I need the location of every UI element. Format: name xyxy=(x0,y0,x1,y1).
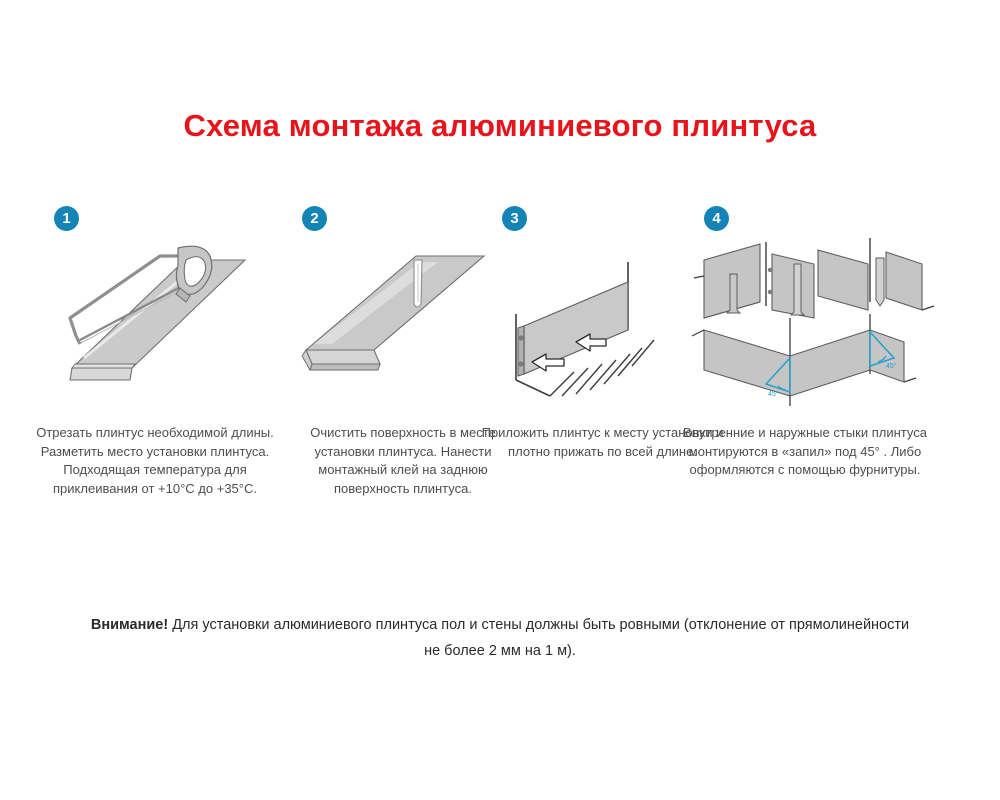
angle-label-inner: 45° xyxy=(768,390,779,398)
step-2: 2 Очисти xyxy=(288,196,518,556)
angle-label-outer: 45° xyxy=(886,362,897,370)
infographic-page: Схема монтажа алюминиевого плинтуса 1 xyxy=(0,0,1000,800)
step-4: 4 xyxy=(690,196,920,556)
step-caption-1: Отрезать плинтус необходимой длины. Разм… xyxy=(35,424,275,498)
press-skirting-to-wall-illustration xyxy=(488,218,718,398)
step-caption-4: Внутренние и наружные стыки плинтуса мон… xyxy=(680,424,930,480)
step-3: 3 xyxy=(488,196,718,556)
step-1: 1 xyxy=(40,196,270,556)
skirting-profile-adhesive-illustration xyxy=(288,218,518,398)
steps-row: 1 xyxy=(40,196,960,556)
warning-text: Для установки алюминиевого плинтуса пол … xyxy=(168,617,909,659)
page-title: Схема монтажа алюминиевого плинтуса xyxy=(0,108,1000,144)
corner-joint-45-degree-illustration: 45° 45° xyxy=(690,218,920,398)
warning-note: Внимание! Для установки алюминиевого пли… xyxy=(85,612,915,664)
warning-lead: Внимание! xyxy=(91,617,168,633)
hacksaw-cutting-skirting-illustration xyxy=(40,218,270,398)
